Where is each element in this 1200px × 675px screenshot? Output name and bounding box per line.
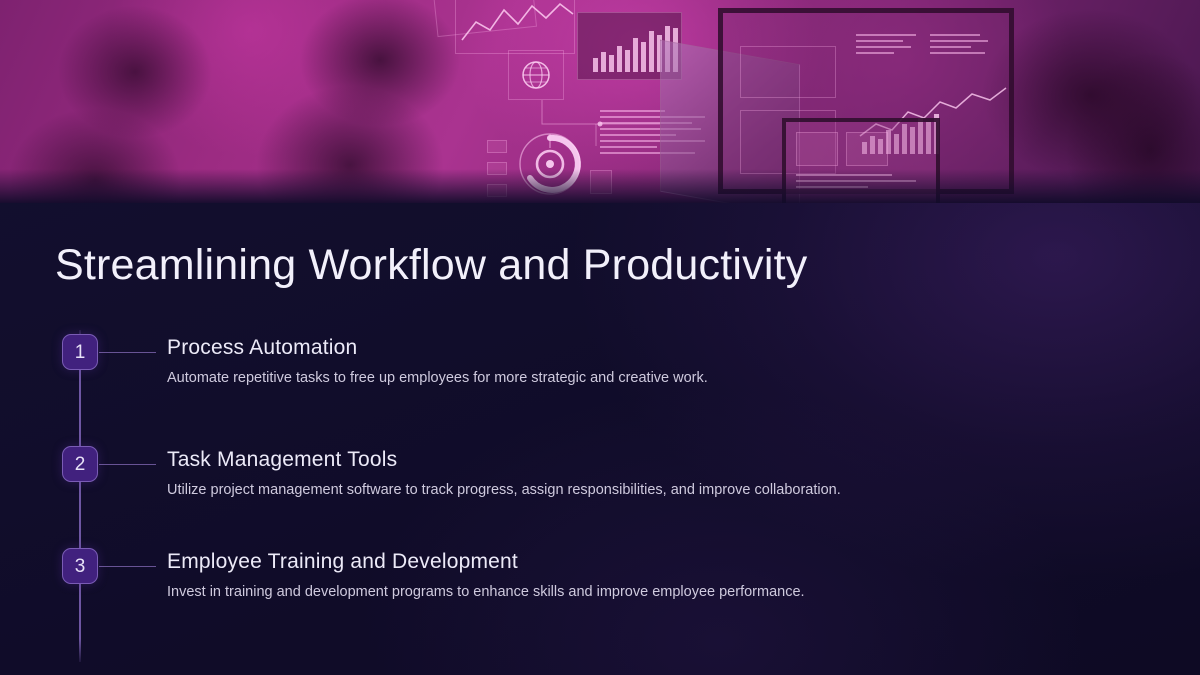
step-connector-line	[99, 464, 156, 465]
step-number-badge: 3	[62, 548, 98, 584]
page-title: Streamlining Workflow and Productivity	[55, 241, 807, 290]
hero-image	[0, 0, 1200, 203]
monitor-text-lines	[856, 34, 916, 54]
step-heading: Process Automation	[167, 336, 357, 360]
step-description: Automate repetitive tasks to free up emp…	[167, 370, 708, 386]
globe-icon	[519, 58, 553, 97]
step-number-badge: 2	[62, 446, 98, 482]
timeline-step[interactable]: 1 Process Automation Automate repetitive…	[0, 334, 1200, 424]
step-heading: Employee Training and Development	[167, 550, 518, 574]
laptop-card	[846, 132, 888, 166]
step-connector-line	[99, 352, 156, 353]
laptop-card	[796, 132, 838, 166]
timeline-step[interactable]: 2 Task Management Tools Utilize project …	[0, 446, 1200, 536]
step-heading: Task Management Tools	[167, 448, 397, 472]
step-description: Invest in training and development progr…	[167, 584, 805, 600]
label-chip	[487, 140, 507, 153]
slide: Streamlining Workflow and Productivity 1…	[0, 0, 1200, 675]
monitor-text-lines	[930, 34, 988, 54]
step-connector-line	[99, 566, 156, 567]
step-number-badge: 1	[62, 334, 98, 370]
monitor-report-panel	[740, 46, 836, 98]
step-description: Utilize project management software to t…	[167, 482, 841, 498]
timeline-step[interactable]: 3 Employee Training and Development Inve…	[0, 548, 1200, 638]
hero-bottom-fade	[0, 169, 1200, 203]
